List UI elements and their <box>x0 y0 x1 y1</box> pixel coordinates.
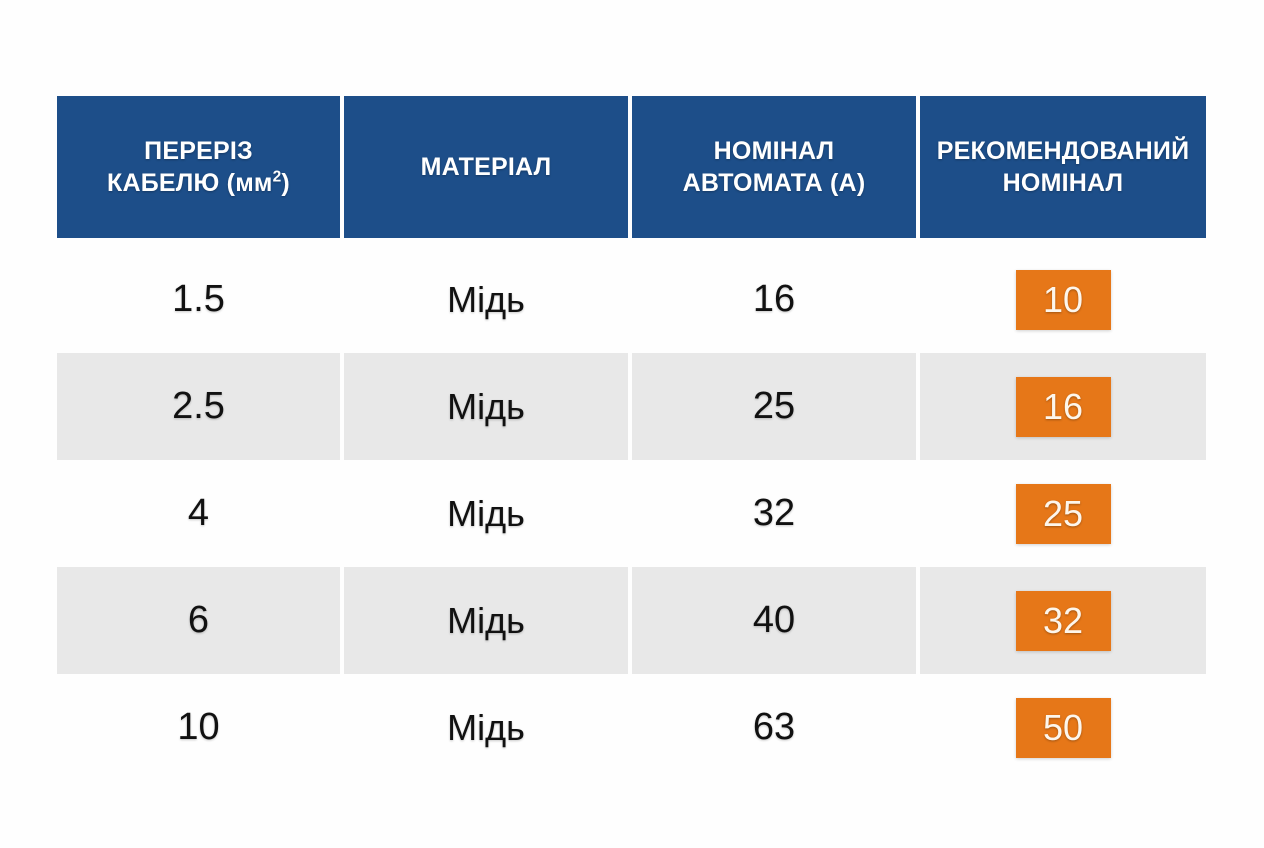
recommended-rating-badge: 16 <box>1016 377 1111 437</box>
column-header-line2-text: НОМІНАЛ <box>1003 169 1124 197</box>
column-header-label: НОМІНАЛАВТОМАТА (А) <box>683 135 866 199</box>
table-cell-value: 2.5 <box>172 385 225 428</box>
table-cell-value: 63 <box>753 706 795 749</box>
table-cell-cross_section: 6 <box>57 567 344 674</box>
table-cell-value: Мідь <box>447 707 525 749</box>
table-cell-material: Мідь <box>344 460 632 567</box>
table-cell-value: 4 <box>188 492 209 535</box>
recommended-rating-badge: 25 <box>1016 484 1111 544</box>
column-header-line1: ПЕРЕРІЗ <box>107 135 290 167</box>
table-cell-material: Мідь <box>344 353 632 460</box>
column-header-line2-text: КАБЕЛЮ (мм <box>107 169 273 197</box>
cable-breaker-table: ПЕРЕРІЗКАБЕЛЮ (мм2)МАТЕРІАЛНОМІНАЛАВТОМА… <box>57 96 1206 781</box>
column-header-line2: КАБЕЛЮ (мм2) <box>107 167 290 199</box>
table-cell-recommended: 32 <box>920 567 1206 674</box>
column-header-cross_section: ПЕРЕРІЗКАБЕЛЮ (мм2) <box>57 96 344 238</box>
table-cell-cross_section: 10 <box>57 674 344 781</box>
table-cell-value: 6 <box>188 599 209 642</box>
column-header-breaker_rating: НОМІНАЛАВТОМАТА (А) <box>632 96 920 238</box>
table-cell-value: 16 <box>753 278 795 321</box>
recommended-rating-badge: 10 <box>1016 270 1111 330</box>
table-cell-material: Мідь <box>344 246 632 353</box>
recommended-rating-badge: 32 <box>1016 591 1111 651</box>
table-cell-value: 10 <box>177 706 219 749</box>
table-cell-breaker_rating: 25 <box>632 353 920 460</box>
table-cell-recommended: 16 <box>920 353 1206 460</box>
table-cell-value: Мідь <box>447 600 525 642</box>
header-body-divider <box>57 238 1206 246</box>
column-header-line2: НОМІНАЛ <box>937 167 1190 199</box>
column-header-label: МАТЕРІАЛ <box>421 151 552 183</box>
table-cell-breaker_rating: 40 <box>632 567 920 674</box>
column-header-line1: МАТЕРІАЛ <box>421 151 552 183</box>
table-cell-material: Мідь <box>344 674 632 781</box>
column-header-label: РЕКОМЕНДОВАНИЙНОМІНАЛ <box>937 135 1190 199</box>
column-header-line1: НОМІНАЛ <box>683 135 866 167</box>
table-cell-value: 25 <box>753 385 795 428</box>
table-cell-value: Мідь <box>447 386 525 428</box>
column-header-material: МАТЕРІАЛ <box>344 96 632 238</box>
table-cell-material: Мідь <box>344 567 632 674</box>
table-cell-cross_section: 4 <box>57 460 344 567</box>
table-grid: ПЕРЕРІЗКАБЕЛЮ (мм2)МАТЕРІАЛНОМІНАЛАВТОМА… <box>57 96 1206 781</box>
table-cell-recommended: 50 <box>920 674 1206 781</box>
table-cell-value: Мідь <box>447 279 525 321</box>
recommended-rating-badge: 50 <box>1016 698 1111 758</box>
column-header-label: ПЕРЕРІЗКАБЕЛЮ (мм2) <box>107 135 290 199</box>
table-cell-breaker_rating: 63 <box>632 674 920 781</box>
table-cell-cross_section: 1.5 <box>57 246 344 353</box>
table-cell-value: 32 <box>753 492 795 535</box>
column-header-line2: АВТОМАТА (А) <box>683 167 866 199</box>
table-cell-value: 1.5 <box>172 278 225 321</box>
column-header-line1: РЕКОМЕНДОВАНИЙ <box>937 135 1190 167</box>
table-cell-recommended: 10 <box>920 246 1206 353</box>
column-header-line2-text: АВТОМАТА (А) <box>683 169 866 197</box>
table-cell-cross_section: 2.5 <box>57 353 344 460</box>
table-cell-breaker_rating: 16 <box>632 246 920 353</box>
table-cell-value: Мідь <box>447 493 525 535</box>
table-cell-recommended: 25 <box>920 460 1206 567</box>
column-header-line2-tail: ) <box>281 169 290 197</box>
table-cell-breaker_rating: 32 <box>632 460 920 567</box>
column-header-recommended: РЕКОМЕНДОВАНИЙНОМІНАЛ <box>920 96 1206 238</box>
table-cell-value: 40 <box>753 599 795 642</box>
